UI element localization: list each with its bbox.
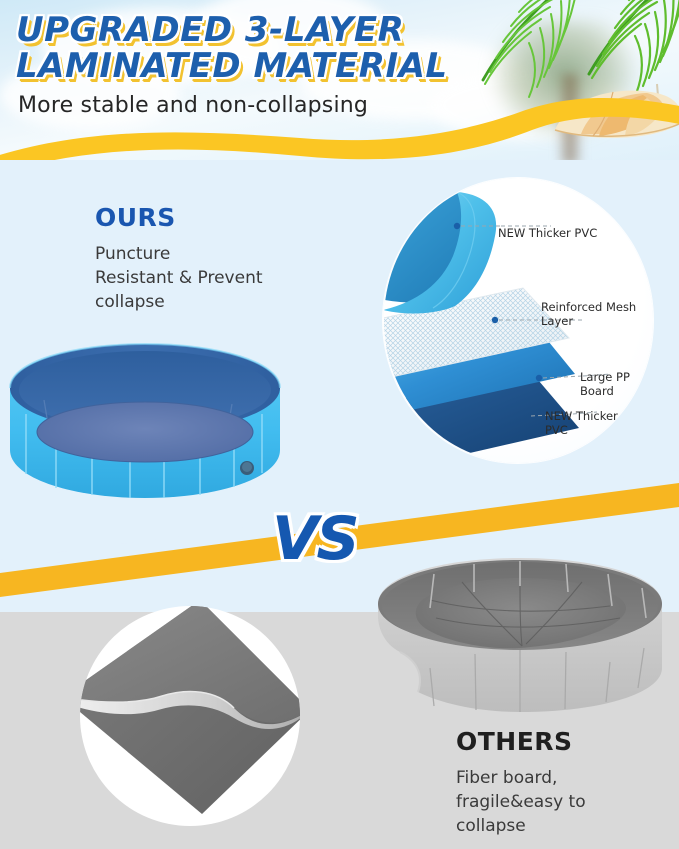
vs-badge: VS [272,500,368,578]
layer-label-pp-board: Large PP Board [580,370,630,398]
page-title: UPGRADED 3-LAYER LAMINATED MATERIAL [16,12,536,84]
infographic-page: UPGRADED 3-LAYER LAMINATED MATERIAL More… [0,0,679,849]
page-subtitle: More stable and non-collapsing [18,93,498,118]
ours-heading: OURS [95,203,176,232]
gray-collapsing-pool-image [370,548,670,728]
gray-material-closeup [62,592,352,849]
layer-label-top-pvc: NEW Thicker PVC [498,226,597,240]
layer-label-bottom-pvc: NEW Thicker PVC [545,409,618,437]
hero-banner: UPGRADED 3-LAYER LAMINATED MATERIAL More… [0,0,679,172]
others-description: Fiber board, fragile&easy to collapse [456,766,656,838]
ours-description: Puncture Resistant & Prevent collapse [95,242,300,314]
others-heading: OTHERS [456,727,573,756]
layer-label-mesh: Reinforced Mesh Layer [541,300,636,328]
